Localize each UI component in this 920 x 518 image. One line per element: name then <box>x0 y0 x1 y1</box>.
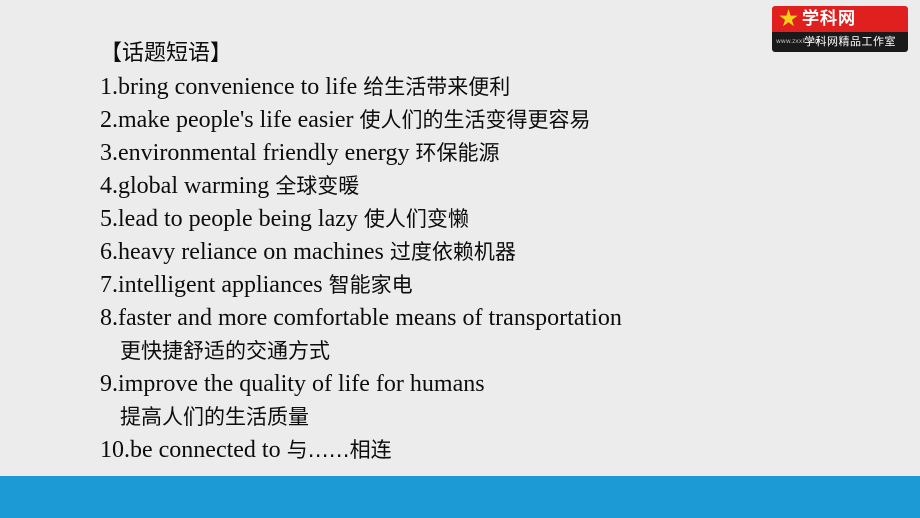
phrase-cn: 过度依赖机器 <box>390 240 516 264</box>
phrase-cn: 与……相连 <box>287 438 392 462</box>
slide-content: 【话题短语】 1.bring convenience to life 给生活带来… <box>100 36 820 467</box>
list-item: 5.lead to people being lazy 使人们变懒 <box>100 203 820 236</box>
page-title-text: 【话题短语】 <box>100 41 232 66</box>
phrase-en: 7.intelligent appliances <box>100 272 323 298</box>
list-item: 10.be connected to 与……相连 <box>100 434 820 467</box>
list-item: 7.intelligent appliances 智能家电 <box>100 269 820 302</box>
phrase-en: 4.global warming <box>100 173 269 199</box>
phrase-en: 6.heavy reliance on machines <box>100 239 384 265</box>
slide-canvas: 学科网 www.zxxk.com 学科网精品工作室 【话题短语】 1.bring… <box>0 0 920 518</box>
footer-bar <box>0 476 920 518</box>
phrase-cn: 环保能源 <box>415 141 499 165</box>
page-title: 【话题短语】 <box>100 36 820 71</box>
phrase-en: 2.make people's life easier <box>100 107 354 133</box>
logo-brand-name: 学科网 <box>802 7 856 31</box>
phrase-en: 10.be connected to <box>100 437 281 463</box>
phrase-cn: 提高人们的生活质量 <box>120 405 309 429</box>
phrase-cn: 使人们的生活变得更容易 <box>360 108 591 132</box>
phrase-en: 1.bring convenience to life <box>100 74 357 100</box>
phrase-cn: 全球变暖 <box>275 174 359 198</box>
list-item: 6.heavy reliance on machines 过度依赖机器 <box>100 236 820 269</box>
list-item-continuation: 更快捷舒适的交通方式 <box>100 335 820 368</box>
phrase-en: 8.faster and more comfortable means of t… <box>100 305 622 331</box>
phrase-cn: 使人们变懒 <box>364 207 469 231</box>
star-icon <box>779 9 798 28</box>
list-item: 8.faster and more comfortable means of t… <box>100 302 820 335</box>
phrase-cn: 给生活带来便利 <box>363 75 510 99</box>
phrase-en: 5.lead to people being lazy <box>100 206 358 232</box>
list-item: 9.improve the quality of life for humans <box>100 368 820 401</box>
phrase-cn: 更快捷舒适的交通方式 <box>120 339 330 363</box>
list-item: 4.global warming 全球变暖 <box>100 170 820 203</box>
phrase-cn: 智能家电 <box>329 273 413 297</box>
list-item: 1.bring convenience to life 给生活带来便利 <box>100 71 820 104</box>
list-item: 2.make people's life easier 使人们的生活变得更容易 <box>100 104 820 137</box>
phrase-en: 9.improve the quality of life for humans <box>100 371 485 397</box>
phrase-en: 3.environmental friendly energy <box>100 140 409 166</box>
list-item-continuation: 提高人们的生活质量 <box>100 401 820 434</box>
logo-top-banner: 学科网 <box>772 6 908 32</box>
list-item: 3.environmental friendly energy 环保能源 <box>100 137 820 170</box>
